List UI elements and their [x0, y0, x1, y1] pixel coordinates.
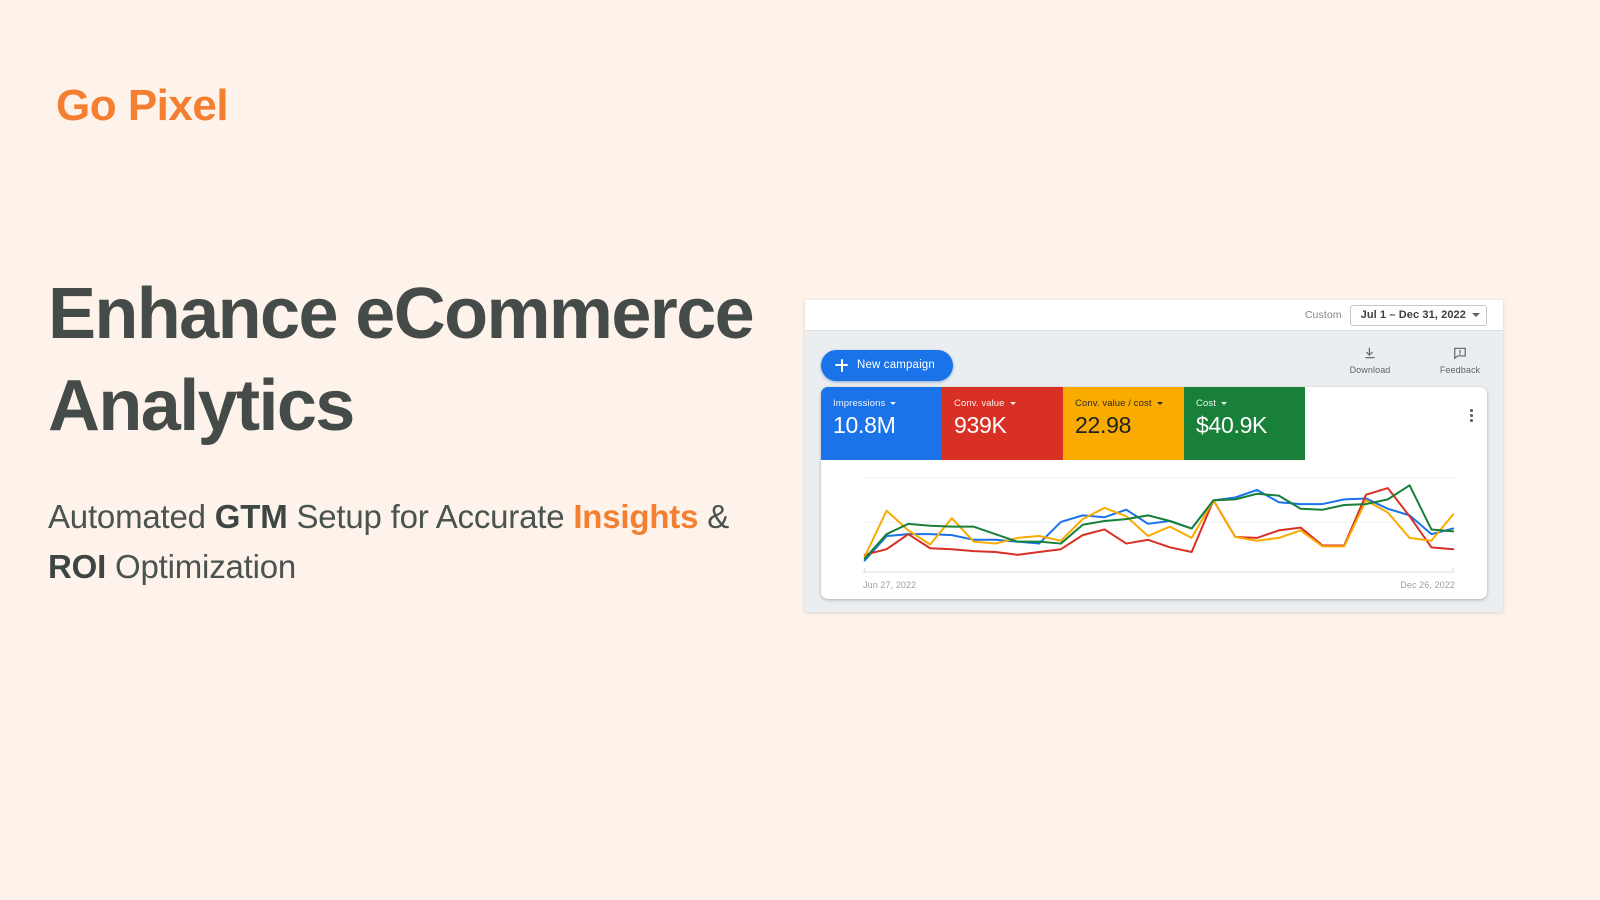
dashboard-screenshot: Custom Jul 1 – Dec 31, 2022 New campaign	[805, 300, 1503, 612]
brand-logo[interactable]: Go Pixel	[56, 82, 228, 130]
performance-chart: Jun 27, 2022 Dec 26, 2022	[821, 460, 1487, 599]
metric-tile-cost[interactable]: Cost $40.9K	[1184, 387, 1305, 460]
metric-label: Impressions	[833, 398, 885, 409]
date-range-custom-label: Custom	[1305, 309, 1342, 321]
chevron-down-icon[interactable]	[1010, 402, 1016, 405]
dashboard-top-actions: Download Feedback	[1343, 345, 1487, 375]
metric-label: Cost	[1196, 398, 1216, 409]
metric-tile-conv-value[interactable]: Conv. value 939K	[942, 387, 1063, 460]
hero-subtitle: Automated GTM Setup for Accurate Insight…	[48, 492, 788, 592]
plus-icon	[835, 359, 848, 372]
x-axis-label-end: Dec 26, 2022	[1400, 580, 1455, 590]
new-campaign-button[interactable]: New campaign	[821, 350, 953, 381]
metric-tile-conv-value-cost[interactable]: Conv. value / cost 22.98	[1063, 387, 1184, 460]
subtitle-accent-insights: Insights	[573, 498, 698, 535]
chart-series-group	[865, 485, 1453, 560]
feedback-icon	[1453, 345, 1467, 361]
metric-label: Conv. value	[954, 398, 1005, 409]
chart-axis	[863, 568, 1455, 572]
subtitle-bold-gtm: GTM	[215, 498, 288, 535]
dashboard-action-row: New campaign Download	[821, 343, 1487, 387]
date-range-selector[interactable]: Jul 1 – Dec 31, 2022	[1350, 305, 1487, 326]
subtitle-bold-roi: ROI	[48, 548, 106, 585]
metric-value: 22.98	[1075, 413, 1184, 438]
chart-line-conv-value-cost	[865, 500, 1453, 556]
page-title: Enhance eCommerce Analytics	[48, 268, 788, 452]
hero-section: Enhance eCommerce Analytics Automated GT…	[48, 268, 788, 593]
download-button[interactable]: Download	[1343, 345, 1397, 375]
metric-value: $40.9K	[1196, 413, 1305, 438]
chevron-down-icon[interactable]	[1221, 402, 1227, 405]
chevron-down-icon[interactable]	[890, 402, 896, 405]
new-campaign-label: New campaign	[857, 359, 935, 371]
subtitle-text-4: Optimization	[106, 548, 296, 585]
dashboard-topbar: Custom Jul 1 – Dec 31, 2022	[805, 300, 1503, 331]
download-icon	[1363, 345, 1377, 361]
dashboard-body: New campaign Download	[805, 331, 1503, 612]
feedback-label: Feedback	[1440, 365, 1480, 375]
subtitle-text-1: Automated	[48, 498, 215, 535]
metric-tile-impressions[interactable]: Impressions 10.8M	[821, 387, 942, 460]
subtitle-text-2: Setup for Accurate	[288, 498, 574, 535]
metric-label-row: Cost	[1196, 398, 1305, 409]
chevron-down-icon[interactable]	[1157, 402, 1163, 405]
metric-value: 10.8M	[833, 413, 942, 438]
kebab-menu-icon[interactable]	[1470, 409, 1473, 422]
chevron-down-icon	[1472, 313, 1480, 317]
metric-tiles: Impressions 10.8M Conv. value 939K Conv.…	[821, 387, 1487, 460]
download-label: Download	[1350, 365, 1391, 375]
metric-label-row: Conv. value	[954, 398, 1063, 409]
feedback-button[interactable]: Feedback	[1433, 345, 1487, 375]
metric-label-row: Impressions	[833, 398, 942, 409]
chart-canvas	[821, 460, 1487, 599]
x-axis-label-start: Jun 27, 2022	[863, 580, 916, 590]
subtitle-text-3: &	[698, 498, 729, 535]
metric-value: 939K	[954, 413, 1063, 438]
performance-card: Impressions 10.8M Conv. value 939K Conv.…	[821, 387, 1487, 599]
metric-label: Conv. value / cost	[1075, 398, 1152, 409]
metric-label-row: Conv. value / cost	[1075, 398, 1184, 409]
date-range-value: Jul 1 – Dec 31, 2022	[1361, 309, 1466, 321]
